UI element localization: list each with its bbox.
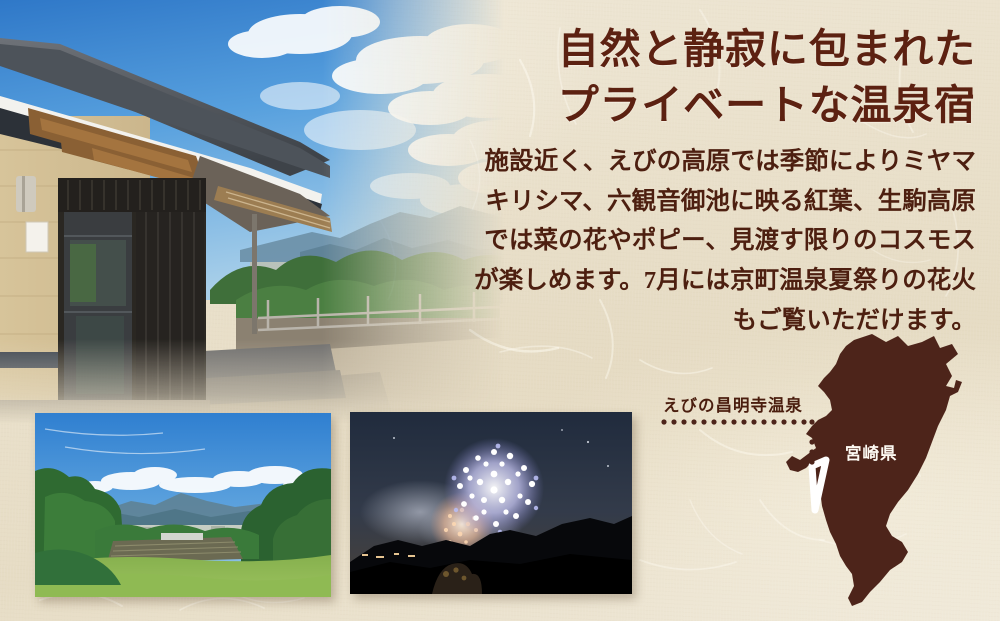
map-callout-label: えびの昌明寺温泉 xyxy=(663,392,803,416)
description-line-2: キリシマ、六観音御池に映る紅葉、生駒高原 xyxy=(456,182,976,222)
photo-countryside-landscape xyxy=(35,413,331,597)
description-text: 施設近く、えびの高原では季節によりミヤマ キリシマ、六観音御池に映る紅葉、生駒高… xyxy=(456,142,976,340)
prefecture-shape xyxy=(806,334,962,606)
description-line-4: が楽しめます。7月には京町温泉夏祭りの花火 xyxy=(456,261,976,301)
miyazaki-map xyxy=(640,330,1000,621)
photo-ryokan-entrance xyxy=(0,0,520,424)
photo-fireworks-night xyxy=(350,412,632,594)
page-title-line2: プライベートな温泉宿 xyxy=(456,78,976,134)
description-line-1: 施設近く、えびの高原では季節によりミヤマ xyxy=(456,142,976,182)
poster-canvas: 自然と静寂に包まれた プライベートな温泉宿 施設近く、えびの高原では季節によりミ… xyxy=(0,0,1000,621)
prefecture-name-label: 宮崎県 xyxy=(845,440,897,464)
page-title: 自然と静寂に包まれた プライベートな温泉宿 xyxy=(456,22,976,134)
page-title-line1: 自然と静寂に包まれた xyxy=(558,26,976,72)
description-line-3: では菜の花やポピー、見渡す限りのコスモス xyxy=(456,221,976,261)
